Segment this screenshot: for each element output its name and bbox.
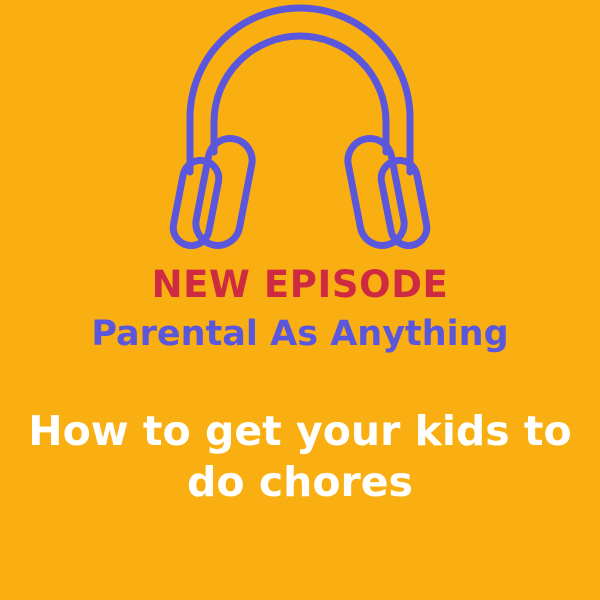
headband-inner-arc	[214, 36, 386, 152]
episode-promo-card: NEW EPISODE Parental As Anything How to …	[0, 0, 600, 600]
episode-title-line-1: How to get your kids to	[0, 406, 600, 457]
show-name-label: Parental As Anything	[0, 308, 600, 360]
new-episode-eyebrow: NEW EPISODE	[0, 262, 600, 308]
left-earcup-inner-pill	[192, 135, 256, 249]
right-earcup-inner-pill	[344, 135, 408, 249]
episode-title: How to get your kids to do chores	[0, 360, 600, 508]
episode-title-line-2: do chores	[0, 457, 600, 508]
promo-text-block: NEW EPISODE Parental As Anything How to …	[0, 262, 600, 508]
headphones-icon	[0, 0, 600, 270]
